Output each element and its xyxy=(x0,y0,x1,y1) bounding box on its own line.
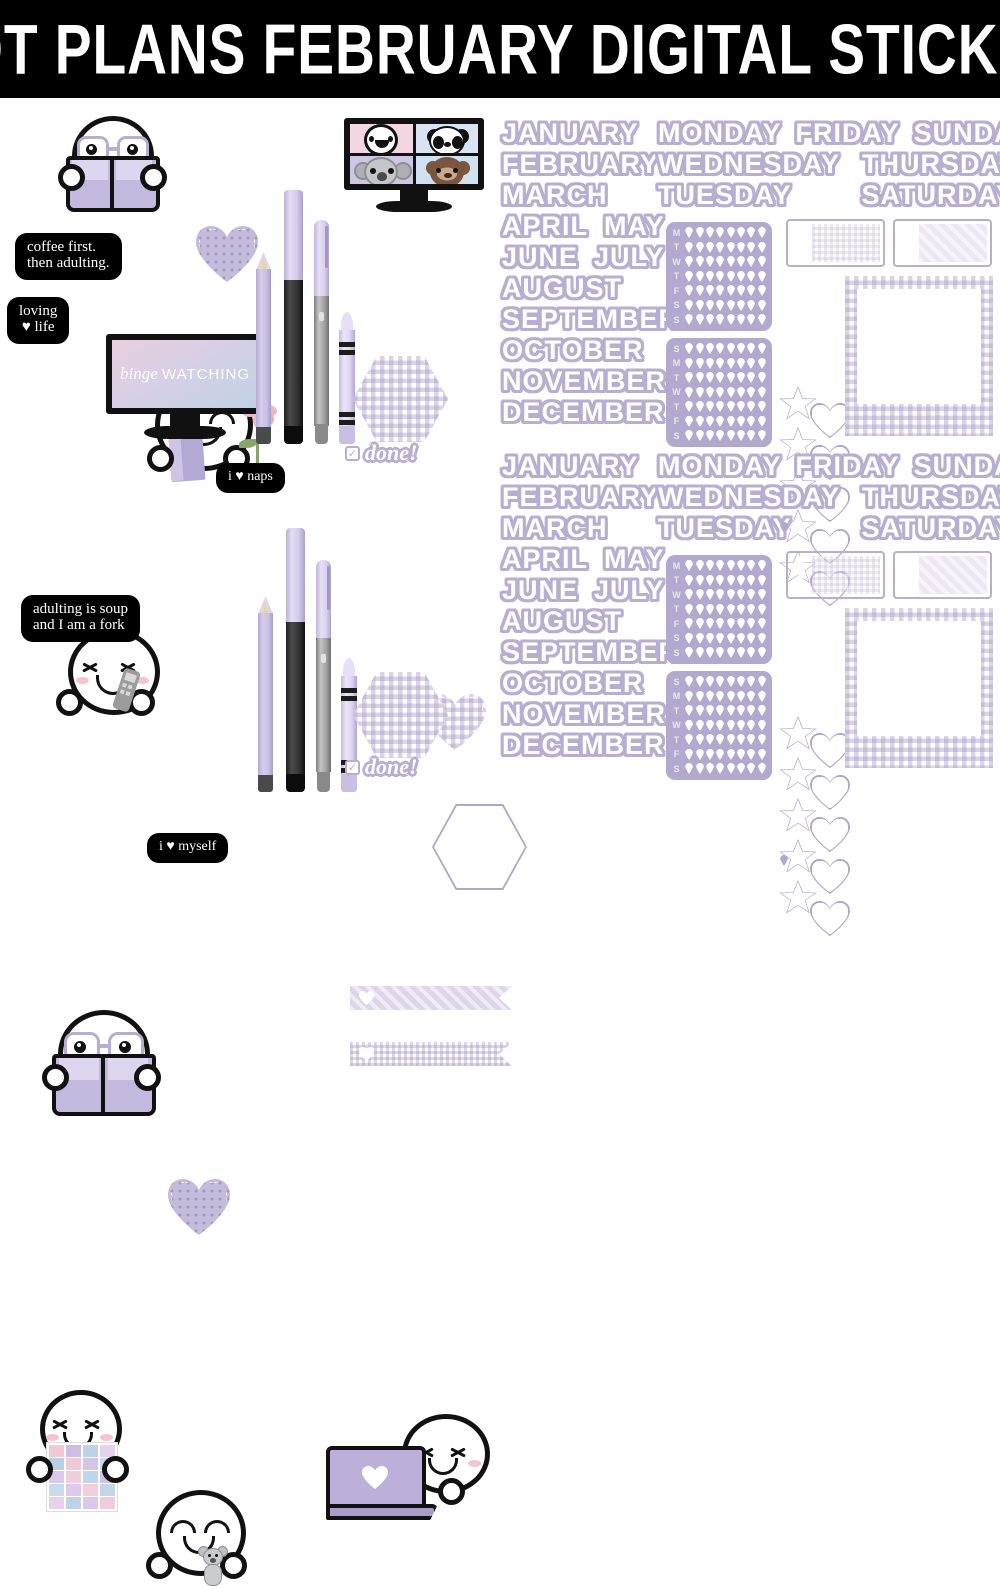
water-drop-icon[interactable] xyxy=(758,633,766,644)
water-drop-icon[interactable] xyxy=(716,343,724,354)
water-drop-icon[interactable] xyxy=(747,734,755,745)
water-drop-icon[interactable] xyxy=(747,227,755,238)
month-february[interactable]: FEBRUARY xyxy=(502,484,679,511)
water-drop-icon[interactable] xyxy=(727,618,735,629)
water-drop-icon[interactable] xyxy=(737,401,745,412)
water-drop-icon[interactable] xyxy=(727,749,735,760)
water-drop-icon[interactable] xyxy=(685,720,693,731)
water-drop-icon[interactable] xyxy=(758,691,766,702)
rating-box-gingham-top[interactable] xyxy=(786,219,885,267)
water-drop-icon[interactable] xyxy=(758,242,766,253)
tracker-day-label: S xyxy=(669,648,684,658)
water-drop-icon[interactable] xyxy=(696,691,704,702)
water-drop-icon[interactable] xyxy=(696,618,704,629)
month-july[interactable]: JULY xyxy=(594,244,665,271)
water-drop-icon[interactable] xyxy=(747,705,755,716)
month-august[interactable]: AUGUST xyxy=(502,608,679,635)
month-september[interactable]: SEPTEMBER xyxy=(502,639,679,666)
water-drop-icon[interactable] xyxy=(706,575,714,586)
water-drop-icon[interactable] xyxy=(737,314,745,325)
monitor-screen: binge WATCHING xyxy=(106,334,264,414)
water-drop-icon[interactable] xyxy=(737,560,745,571)
water-drop-icon[interactable] xyxy=(716,560,724,571)
water-drop-icon[interactable] xyxy=(685,633,693,644)
water-drop-icon[interactable] xyxy=(758,720,766,731)
water-drop-icon[interactable] xyxy=(747,618,755,629)
weekday-tuesday[interactable]: TUESDAY xyxy=(658,515,792,542)
water-drop-icon[interactable] xyxy=(737,271,745,282)
water-drop-icon[interactable] xyxy=(685,300,693,311)
water-drop-icon[interactable] xyxy=(685,575,693,586)
water-drop-icon[interactable] xyxy=(696,372,704,383)
water-drop-icon[interactable] xyxy=(758,416,766,427)
water-drop-icon[interactable] xyxy=(758,575,766,586)
water-drop-icon[interactable] xyxy=(706,705,714,716)
water-drop-icon[interactable] xyxy=(747,647,755,658)
water-drop-icon[interactable] xyxy=(727,242,735,253)
weekday-sunday[interactable]: SUNDAY xyxy=(914,453,1000,480)
water-drop-icon[interactable] xyxy=(696,647,704,658)
water-drop-icon[interactable] xyxy=(706,256,714,267)
water-drop-icon[interactable] xyxy=(737,358,745,369)
water-drop-icon[interactable] xyxy=(758,372,766,383)
water-drop-icon[interactable] xyxy=(747,372,755,383)
water-drop-icon[interactable] xyxy=(747,285,755,296)
water-drop-icon[interactable] xyxy=(716,720,724,731)
water-drop-icon[interactable] xyxy=(706,691,714,702)
water-drop-icon[interactable] xyxy=(696,676,704,687)
water-drop-icon[interactable] xyxy=(706,300,714,311)
heart-outline-icon[interactable] xyxy=(810,733,850,768)
water-drop-icon[interactable] xyxy=(737,343,745,354)
water-drop-icon[interactable] xyxy=(696,575,704,586)
stationery-group-bottom xyxy=(258,528,350,794)
blob-blush-right xyxy=(468,1460,481,1467)
water-drop-icon[interactable] xyxy=(758,676,766,687)
water-drop-icon[interactable] xyxy=(706,285,714,296)
water-drop-icon[interactable] xyxy=(727,387,735,398)
water-drop-icon[interactable] xyxy=(706,387,714,398)
water-drop-icon[interactable] xyxy=(696,358,704,369)
water-drop-icon[interactable] xyxy=(716,271,724,282)
water-drop-icon[interactable] xyxy=(696,242,704,253)
water-drop-icon[interactable] xyxy=(706,430,714,441)
month-november[interactable]: NOVEMBER xyxy=(502,368,679,395)
water-drop-icon[interactable] xyxy=(706,401,714,412)
phrase-coffee-first: coffee first. then adulting. xyxy=(18,236,119,277)
water-drop-icon[interactable] xyxy=(727,271,735,282)
heart-outline-icon[interactable] xyxy=(810,817,850,852)
water-drop-icon[interactable] xyxy=(716,387,724,398)
star-icon xyxy=(902,253,915,265)
water-drop-icon[interactable] xyxy=(706,749,714,760)
water-drop-icon[interactable] xyxy=(716,300,724,311)
water-drop-icon[interactable] xyxy=(716,358,724,369)
water-drop-icon[interactable] xyxy=(727,401,735,412)
month-june[interactable]: JUNE xyxy=(502,244,578,271)
water-drop-icon[interactable] xyxy=(685,618,693,629)
blob-hand-left xyxy=(58,164,85,191)
water-drop-icon[interactable] xyxy=(727,604,735,615)
rating-box-stripe-top[interactable] xyxy=(893,219,992,267)
water-drop-icon[interactable] xyxy=(727,314,735,325)
water-drop-icon[interactable] xyxy=(758,604,766,615)
water-drop-icon[interactable] xyxy=(727,285,735,296)
water-drop-icon[interactable] xyxy=(706,589,714,600)
tracker-row: W xyxy=(669,719,767,733)
water-drop-icon[interactable] xyxy=(685,749,693,760)
water-drop-icon[interactable] xyxy=(696,314,704,325)
water-drop-icon[interactable] xyxy=(696,705,704,716)
water-drop-icon[interactable] xyxy=(696,560,704,571)
water-drop-icon[interactable] xyxy=(706,734,714,745)
water-drop-icon[interactable] xyxy=(747,358,755,369)
water-drop-icon[interactable] xyxy=(727,430,735,441)
month-august[interactable]: AUGUST xyxy=(502,275,679,302)
habit-tracker-sunday-start-bottom[interactable]: SMTWTFS xyxy=(666,671,772,780)
water-drop-icon[interactable] xyxy=(716,604,724,615)
water-drop-icon[interactable] xyxy=(737,430,745,441)
weekday-saturday[interactable]: SATURDAY xyxy=(862,182,1000,209)
water-drop-icon[interactable] xyxy=(737,705,745,716)
water-drop-icon[interactable] xyxy=(737,387,745,398)
water-drop-icon[interactable] xyxy=(685,285,693,296)
habit-tracker-monday-start-top[interactable]: MTWTFSS xyxy=(666,222,772,331)
month-april[interactable]: APRIL xyxy=(502,546,588,573)
water-drop-icon[interactable] xyxy=(758,300,766,311)
water-drop-icon[interactable] xyxy=(706,416,714,427)
water-drop-icon[interactable] xyxy=(747,633,755,644)
weekday-thursday[interactable]: THURSDAY xyxy=(862,151,1000,178)
water-drop-icon[interactable] xyxy=(737,300,745,311)
month-may[interactable]: MAY xyxy=(604,546,665,573)
water-drop-icon[interactable] xyxy=(696,430,704,441)
tracker-row: S xyxy=(669,342,767,356)
water-drop-icon[interactable] xyxy=(716,676,724,687)
water-drop-icon[interactable] xyxy=(747,575,755,586)
water-drop-icon[interactable] xyxy=(737,691,745,702)
water-drop-icon[interactable] xyxy=(737,676,745,687)
weekday-monday[interactable]: MONDAY xyxy=(658,453,782,480)
water-drop-icon[interactable] xyxy=(737,242,745,253)
water-drop-icon[interactable] xyxy=(716,401,724,412)
water-drop-icon[interactable] xyxy=(727,416,735,427)
weekday-wednesday[interactable]: WEDNESDAY xyxy=(658,151,840,178)
photo-frame-gingham-bottom[interactable] xyxy=(845,608,993,768)
water-drop-icon[interactable] xyxy=(747,416,755,427)
month-april[interactable]: APRIL xyxy=(502,213,588,240)
water-drop-icon[interactable] xyxy=(685,676,693,687)
water-drop-icon[interactable] xyxy=(716,285,724,296)
water-drop-icon[interactable] xyxy=(727,734,735,745)
water-drop-icon[interactable] xyxy=(716,227,724,238)
water-drop-icon[interactable] xyxy=(706,763,714,774)
water-drop-icon[interactable] xyxy=(706,358,714,369)
water-drop-icon[interactable] xyxy=(727,256,735,267)
month-october[interactable]: OCTOBER xyxy=(502,670,679,697)
heart-outline-icon[interactable] xyxy=(810,859,850,894)
water-drop-icon[interactable] xyxy=(696,343,704,354)
water-drop-icon[interactable] xyxy=(747,271,755,282)
water-drop-icon[interactable] xyxy=(696,227,704,238)
water-drop-icon[interactable] xyxy=(737,647,745,658)
month-june[interactable]: JUNE xyxy=(502,577,578,604)
water-drop-icon[interactable] xyxy=(747,256,755,267)
phrase-line: and I am a fork xyxy=(33,618,128,634)
water-drop-icon[interactable] xyxy=(737,734,745,745)
water-drop-icon[interactable] xyxy=(727,647,735,658)
water-drop-icon[interactable] xyxy=(706,314,714,325)
water-drop-icon[interactable] xyxy=(727,560,735,571)
water-drop-icon[interactable] xyxy=(685,372,693,383)
water-drop-icon[interactable] xyxy=(685,589,693,600)
water-drop-icon[interactable] xyxy=(706,271,714,282)
water-drop-icon[interactable] xyxy=(685,401,693,412)
water-drop-icon[interactable] xyxy=(727,720,735,731)
weekday-monday[interactable]: MONDAY xyxy=(658,120,782,147)
water-drop-icon[interactable] xyxy=(737,618,745,629)
water-drop-icon[interactable] xyxy=(706,227,714,238)
water-drop-icon[interactable] xyxy=(716,589,724,600)
rating-box-gingham-bottom[interactable] xyxy=(786,551,885,599)
water-drop-icon[interactable] xyxy=(737,604,745,615)
weekday-tuesday[interactable]: TUESDAY xyxy=(658,182,792,209)
water-drop-icon[interactable] xyxy=(685,256,693,267)
water-drop-icon[interactable] xyxy=(696,256,704,267)
photo-frame-gingham-top[interactable] xyxy=(845,276,993,436)
water-drop-icon[interactable] xyxy=(716,242,724,253)
water-drop-icon[interactable] xyxy=(706,633,714,644)
water-drop-icon[interactable] xyxy=(696,589,704,600)
water-drop-icon[interactable] xyxy=(716,618,724,629)
water-drop-icon[interactable] xyxy=(747,300,755,311)
water-drop-icon[interactable] xyxy=(737,589,745,600)
water-drop-icon[interactable] xyxy=(737,720,745,731)
water-drop-icon[interactable] xyxy=(716,763,724,774)
water-drop-icon[interactable] xyxy=(758,387,766,398)
water-drop-icon[interactable] xyxy=(747,676,755,687)
month-july[interactable]: JULY xyxy=(594,577,665,604)
month-march[interactable]: MARCH xyxy=(502,182,679,209)
water-drop-icon[interactable] xyxy=(696,387,704,398)
habit-tracker-sunday-start-top[interactable]: SMTWTFS xyxy=(666,338,772,447)
water-drop-icon[interactable] xyxy=(706,720,714,731)
checkbox-icon[interactable]: ✓ xyxy=(345,446,360,461)
weekday-wednesday[interactable]: WEDNESDAY xyxy=(658,484,840,511)
water-drop-icon[interactable] xyxy=(758,647,766,658)
water-drop-icon[interactable] xyxy=(747,343,755,354)
water-drop-icon[interactable] xyxy=(696,633,704,644)
month-october[interactable]: OCTOBER xyxy=(502,337,679,364)
water-drop-icon[interactable] xyxy=(706,676,714,687)
water-drop-icon[interactable] xyxy=(758,763,766,774)
water-drop-icon[interactable] xyxy=(727,633,735,644)
water-drop-icon[interactable] xyxy=(737,285,745,296)
water-drop-icon[interactable] xyxy=(737,749,745,760)
checkbox-icon[interactable]: ✓ xyxy=(345,760,360,775)
water-drop-icon[interactable] xyxy=(727,372,735,383)
water-drop-icon[interactable] xyxy=(727,575,735,586)
water-drop-icon[interactable] xyxy=(716,647,724,658)
water-drop-icon[interactable] xyxy=(758,734,766,745)
water-drop-icon[interactable] xyxy=(696,416,704,427)
habit-tracker-monday-start-bottom[interactable]: MTWTFSS xyxy=(666,555,772,664)
heart-icon xyxy=(359,991,374,1005)
water-drop-icon[interactable] xyxy=(727,676,735,687)
water-drop-icon[interactable] xyxy=(696,285,704,296)
water-drop-icon[interactable] xyxy=(758,314,766,325)
water-drop-icon[interactable] xyxy=(758,358,766,369)
water-drop-icon[interactable] xyxy=(696,271,704,282)
water-drop-icon[interactable] xyxy=(737,416,745,427)
heart-outline-icon[interactable] xyxy=(810,901,850,936)
marker xyxy=(286,528,305,792)
water-drop-icon[interactable] xyxy=(758,343,766,354)
water-drop-icon[interactable] xyxy=(685,271,693,282)
water-drop-icon[interactable] xyxy=(716,416,724,427)
water-drop-icon[interactable] xyxy=(685,358,693,369)
water-drop-icon[interactable] xyxy=(737,372,745,383)
water-drop-icon[interactable] xyxy=(716,749,724,760)
water-drop-icon[interactable] xyxy=(706,242,714,253)
water-drop-icon[interactable] xyxy=(727,358,735,369)
water-drop-icon[interactable] xyxy=(758,705,766,716)
water-drop-icon[interactable] xyxy=(737,575,745,586)
water-drop-icon[interactable] xyxy=(747,604,755,615)
weekday-friday[interactable]: FRIDAY xyxy=(796,120,900,147)
water-drop-icon[interactable] xyxy=(685,734,693,745)
water-drop-icon[interactable] xyxy=(716,633,724,644)
water-drop-icon[interactable] xyxy=(706,647,714,658)
water-drop-icon[interactable] xyxy=(747,560,755,571)
water-drop-icon[interactable] xyxy=(747,242,755,253)
page-header: SPOT PLANS FEBRUARY DIGITAL STICKERS xyxy=(0,0,1000,98)
water-drop-icon[interactable] xyxy=(758,401,766,412)
water-drop-icon[interactable] xyxy=(685,343,693,354)
water-drop-icon[interactable] xyxy=(758,271,766,282)
water-drop-icon[interactable] xyxy=(747,763,755,774)
phrase-i-love-naps: i ♥ naps xyxy=(219,466,282,490)
water-drop-icon[interactable] xyxy=(727,227,735,238)
water-drop-icon[interactable] xyxy=(716,705,724,716)
water-drop-icon[interactable] xyxy=(685,604,693,615)
water-drop-icon[interactable] xyxy=(747,749,755,760)
water-drop-icon[interactable] xyxy=(696,604,704,615)
month-december[interactable]: DECEMBER xyxy=(502,732,679,759)
month-november[interactable]: NOVEMBER xyxy=(502,701,679,728)
water-drop-icon[interactable] xyxy=(706,343,714,354)
water-drop-icon[interactable] xyxy=(685,430,693,441)
water-drop-icon[interactable] xyxy=(747,430,755,441)
water-drop-icon[interactable] xyxy=(758,589,766,600)
water-drop-icon[interactable] xyxy=(685,705,693,716)
water-drop-icon[interactable] xyxy=(727,300,735,311)
water-drop-icon[interactable] xyxy=(727,763,735,774)
water-drop-icon[interactable] xyxy=(727,589,735,600)
water-drop-icon[interactable] xyxy=(696,749,704,760)
water-drop-icon[interactable] xyxy=(706,372,714,383)
water-drop-icon[interactable] xyxy=(737,227,745,238)
water-drop-icon[interactable] xyxy=(747,401,755,412)
weekday-thursday[interactable]: THURSDAY xyxy=(862,484,1000,511)
water-drop-icon[interactable] xyxy=(696,401,704,412)
water-drop-icon[interactable] xyxy=(706,560,714,571)
water-drop-icon[interactable] xyxy=(727,343,735,354)
water-drop-icon[interactable] xyxy=(685,242,693,253)
water-drop-icon[interactable] xyxy=(716,256,724,267)
water-drop-icon[interactable] xyxy=(727,705,735,716)
month-may[interactable]: MAY xyxy=(604,213,665,240)
weekday-friday[interactable]: FRIDAY xyxy=(796,453,900,480)
water-drop-icon[interactable] xyxy=(737,633,745,644)
month-january[interactable]: JANUARY xyxy=(502,120,679,147)
water-drop-icon[interactable] xyxy=(685,647,693,658)
weekday-saturday[interactable]: SATURDAY xyxy=(862,515,1000,542)
water-drop-icon[interactable] xyxy=(747,691,755,702)
water-drop-icon[interactable] xyxy=(685,691,693,702)
water-drop-icon[interactable] xyxy=(747,314,755,325)
water-drop-icon[interactable] xyxy=(696,763,704,774)
water-drop-icon[interactable] xyxy=(747,589,755,600)
heart-outline-icon[interactable] xyxy=(810,403,850,438)
water-drop-icon[interactable] xyxy=(758,285,766,296)
water-drop-icon[interactable] xyxy=(685,227,693,238)
water-drop-icon[interactable] xyxy=(716,575,724,586)
month-january[interactable]: JANUARY xyxy=(502,453,679,480)
rating-fill xyxy=(812,224,880,262)
weekday-sunday[interactable]: SUNDAY xyxy=(914,120,1000,147)
month-february[interactable]: FEBRUARY xyxy=(502,151,679,178)
month-september[interactable]: SEPTEMBER xyxy=(502,306,679,333)
water-drop-icon[interactable] xyxy=(696,734,704,745)
water-drop-icon[interactable] xyxy=(737,763,745,774)
water-drop-icon[interactable] xyxy=(685,416,693,427)
water-drop-icon[interactable] xyxy=(716,430,724,441)
water-drop-icon[interactable] xyxy=(737,256,745,267)
water-drop-icon[interactable] xyxy=(758,256,766,267)
rating-fill xyxy=(812,556,880,594)
blob-hand-left xyxy=(146,1552,173,1579)
water-drop-icon[interactable] xyxy=(696,720,704,731)
water-drop-icon[interactable] xyxy=(758,749,766,760)
water-drop-icon[interactable] xyxy=(747,720,755,731)
water-drop-icon[interactable] xyxy=(758,560,766,571)
water-drop-icon[interactable] xyxy=(706,604,714,615)
water-drop-icon[interactable] xyxy=(685,314,693,325)
water-drop-icon[interactable] xyxy=(747,387,755,398)
heart-outline-icon[interactable] xyxy=(810,775,850,810)
water-drop-icon[interactable] xyxy=(716,314,724,325)
water-drop-icon[interactable] xyxy=(696,300,704,311)
water-drop-icon[interactable] xyxy=(716,734,724,745)
water-drop-icon[interactable] xyxy=(758,618,766,629)
water-drop-icon[interactable] xyxy=(758,227,766,238)
water-drop-icon[interactable] xyxy=(716,372,724,383)
water-drop-icon[interactable] xyxy=(685,763,693,774)
water-drop-icon[interactable] xyxy=(685,560,693,571)
month-march[interactable]: MARCH xyxy=(502,515,679,542)
water-drop-icon[interactable] xyxy=(716,691,724,702)
water-drop-icon[interactable] xyxy=(758,430,766,441)
water-drop-icon[interactable] xyxy=(685,387,693,398)
month-december[interactable]: DECEMBER xyxy=(502,399,679,426)
water-drop-icon[interactable] xyxy=(706,618,714,629)
rating-box-stripe-bottom[interactable] xyxy=(893,551,992,599)
tracker-row: F xyxy=(669,415,767,429)
blob-hand-left xyxy=(147,445,174,472)
water-drop-icon[interactable] xyxy=(727,691,735,702)
hexagon-outline-top xyxy=(432,804,527,890)
